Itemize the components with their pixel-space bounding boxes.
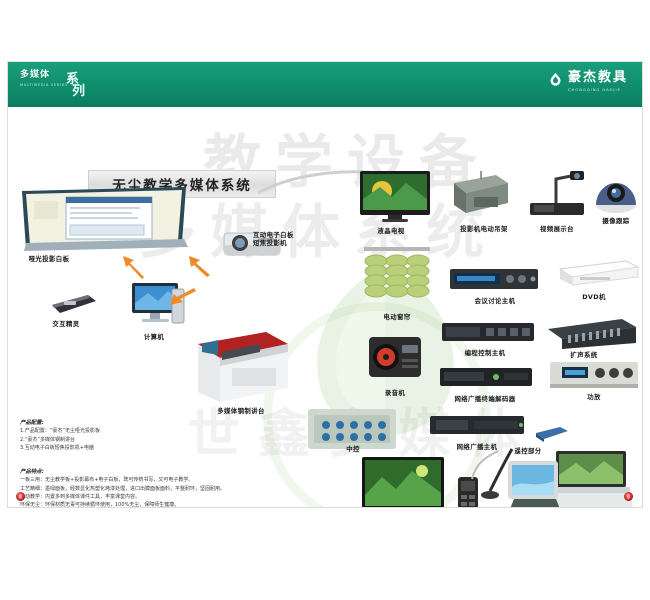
product-image-visual-presenter (526, 167, 588, 221)
spec-config-row-2: 2.“豪杰”多媒体钢制讲台 (20, 436, 270, 444)
product-image-network-broadcast-host (428, 413, 526, 439)
product-image-recorder (366, 329, 424, 387)
product-label-network-decoder: 网络广播终端解码器 (438, 395, 532, 403)
product-image-pa-system (544, 315, 640, 351)
brand-logo: 豪杰教具 CHONGQING HAOJIE (568, 71, 628, 92)
product-label-interactive-whiteboard: 互动电子白板 短焦投影机 (253, 231, 323, 247)
product-image-electric-screen (360, 455, 446, 507)
product-image-camera-tracker (592, 169, 640, 219)
corner-badge-left (16, 492, 25, 501)
brochure-page: 多媒体 系 列 MULTIMEDIA SERIES 豪杰教具 CHONGQING… (0, 0, 650, 600)
series-logo-en: MULTIMEDIA SERIES (20, 83, 68, 87)
corner-badge-right (624, 492, 633, 501)
product-label-electric-curtain: 电动窗帘 (366, 313, 428, 321)
product-label-visual-presenter: 视频展示台 (524, 225, 590, 233)
product-image-multimedia-podium (188, 322, 296, 407)
product-image-remote-part (532, 423, 572, 445)
product-label-camera-tracker: 摄像跟踪 (590, 217, 642, 225)
product-image-lcd-tv (358, 169, 432, 225)
product-image-network-decoder (438, 365, 534, 391)
product-image-program-control-host (440, 319, 536, 347)
sheet-body: 教学设备 多媒体系统 世鑫多媒体 无尘教学多媒体系统 (8, 107, 642, 507)
product-label-matte-whiteboard: 哑光投影白板 (16, 255, 82, 263)
product-image-matte-whiteboard (18, 185, 190, 253)
flame-drop-icon (548, 72, 563, 87)
spec-features-block: 产品特点: 一板三用：无尘教学板+投影幕布+电子白板，既可传统书写，又可电子教学… (20, 469, 350, 507)
spec-features-row-1: 一板三用：无尘教学板+投影幕布+电子白板，既可传统书写，又可电子教学。 (20, 476, 350, 484)
product-image-projector-lift (448, 169, 514, 221)
product-label-lcd-tv: 液晶电视 (360, 227, 422, 235)
spec-features-row-4: 环保无尘：环保材质无毒可持续循环使用，100%无尘，保障师生健康。 (20, 501, 350, 507)
spec-features-row-3: 互动教学：内置多到多媒体课件工具，丰富课堂内容。 (20, 493, 350, 501)
spec-config-row-3: 3.互动电子白板短焦投影机+电脑 (20, 444, 270, 452)
product-label-conference-host: 会议讨论主机 (458, 297, 532, 305)
spec-features-row-2: 工艺精细：墨绿面板，经数显化热塑化烤漆处理，进口出膜面板面料，平整耐环，坚固耐用… (20, 485, 350, 493)
product-image-computer (128, 279, 188, 331)
series-logo-cn: 多媒体 (20, 70, 68, 81)
product-label-pa-system: 扩声系统 (556, 351, 612, 359)
spec-config-heading: 产品配置: (20, 420, 270, 427)
product-label-multimedia-podium: 多媒体钢制讲台 (198, 407, 284, 415)
product-label-power-amplifier: 功放 (574, 393, 614, 401)
product-image-conference-host (448, 265, 540, 295)
product-label-dvd-player: DVD机 (570, 293, 618, 301)
product-image-dvd-player (556, 257, 640, 291)
product-label-interactive-genie: 交互精灵 (38, 320, 94, 328)
spec-features-heading: 产品特点: (20, 469, 350, 476)
brochure-sheet: 多媒体 系 列 MULTIMEDIA SERIES 豪杰教具 CHONGQING… (8, 62, 642, 507)
spec-config-row-1: 1.产品配置：“豪杰”无尘哑光投影板 (20, 427, 270, 435)
product-image-interactive-genie (46, 289, 98, 317)
product-label-program-control-host: 编程控制主机 (446, 349, 524, 357)
series-logo-cn3: 列 (72, 80, 85, 99)
product-image-power-amplifier (548, 359, 640, 391)
product-label-central-control: 中控 (336, 445, 370, 453)
header-band: 多媒体 系 列 MULTIMEDIA SERIES 豪杰教具 CHONGQING… (8, 62, 642, 107)
product-image-touch-panel (504, 459, 564, 507)
product-label-projector-lift: 投影机电动吊架 (448, 225, 520, 233)
series-logo: 多媒体 系 列 MULTIMEDIA SERIES (20, 70, 68, 87)
brand-name-en: CHONGQING HAOJIE (568, 87, 628, 92)
product-label-recorder: 录音机 (372, 389, 418, 397)
spec-config-block: 产品配置: 1.产品配置：“豪杰”无尘哑光投影板 2.“豪杰”多媒体钢制讲台 3… (20, 420, 270, 452)
product-label-computer: 计算机 (130, 333, 178, 341)
flow-arrow-to-whiteboard (120, 255, 146, 279)
brand-name-cn: 豪杰教具 (568, 71, 628, 85)
flow-arrow-up (186, 255, 212, 277)
product-image-electric-curtain (360, 245, 434, 311)
